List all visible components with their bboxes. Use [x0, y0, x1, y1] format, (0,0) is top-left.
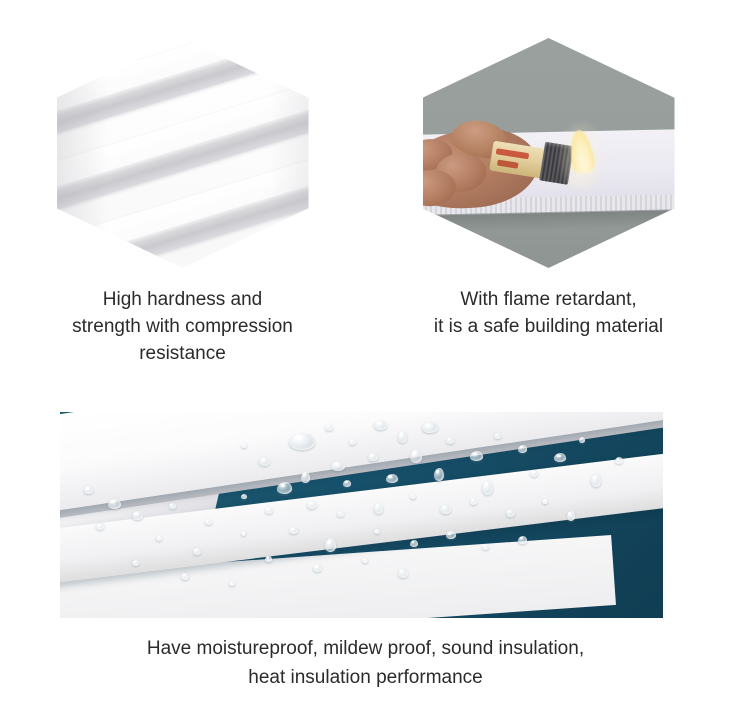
water-droplet: [368, 453, 378, 461]
water-droplet: [343, 480, 351, 487]
water-droplet: [482, 480, 493, 495]
water-droplet: [567, 511, 575, 521]
water-droplet: [337, 511, 344, 517]
water-droplet: [169, 503, 176, 509]
water-droplet: [615, 457, 623, 464]
product-feature-page: High hardness and strength with compress…: [0, 0, 731, 710]
feature-card-flame-retardant: With flame retardant, it is a safe build…: [366, 0, 731, 390]
water-droplet: [386, 474, 398, 483]
feature-caption-hardness: High hardness and strength with compress…: [0, 286, 365, 367]
caption-line: heat insulation performance: [0, 663, 731, 692]
water-droplet: [307, 501, 317, 509]
water-droplet: [470, 499, 477, 505]
water-droplet: [277, 482, 292, 494]
water-droplet: [181, 573, 189, 580]
water-droplet: [398, 569, 408, 578]
water-droplet: [84, 486, 93, 494]
water-droplet: [518, 445, 527, 453]
hexagon-image-flame-retardant: [423, 38, 675, 268]
water-droplet: [374, 503, 383, 514]
water-droplet: [265, 507, 273, 514]
water-droplet: [241, 494, 247, 499]
right-edge-shading: [270, 38, 309, 268]
water-droplet: [410, 540, 418, 547]
feature-card-hardness: High hardness and strength with compress…: [0, 0, 365, 390]
caption-line: With flame retardant,: [380, 286, 717, 313]
flame-test-illustration: [423, 38, 675, 268]
feature-caption-flame-retardant: With flame retardant, it is a safe build…: [366, 286, 731, 340]
water-droplet: [440, 505, 451, 514]
hexagon-image-hardness: [57, 38, 309, 268]
water-droplet: [554, 453, 566, 462]
stacked-boards-illustration: [57, 38, 309, 268]
water-droplet: [410, 449, 422, 463]
water-droplet: [422, 422, 438, 433]
feature-card-moistureproof: Have moistureproof, mildew proof, sound …: [0, 390, 731, 710]
water-droplet: [398, 431, 407, 443]
caption-line: resistance: [14, 340, 351, 367]
water-droplet: [362, 558, 368, 563]
water-droplet: [494, 433, 501, 439]
water-droplet: [301, 472, 310, 483]
water-droplet: [530, 470, 538, 477]
water-droplet: [482, 544, 489, 550]
water-droplet: [325, 538, 336, 552]
water-droplet: [156, 536, 162, 541]
water-droplet: [205, 519, 212, 525]
feature-caption-moistureproof: Have moistureproof, mildew proof, sound …: [0, 634, 731, 692]
moistureproof-image: [60, 412, 663, 618]
water-droplet: [591, 474, 601, 487]
caption-line: it is a safe building material: [380, 313, 717, 340]
water-droplet: [229, 581, 235, 586]
water-droplet: [579, 437, 585, 443]
water-droplet: [434, 468, 444, 481]
water-droplet-illustration: [60, 412, 663, 618]
water-droplet: [374, 529, 380, 534]
caption-line: Have moistureproof, mildew proof, sound …: [0, 634, 731, 663]
water-droplet: [518, 536, 527, 544]
water-droplet: [446, 531, 456, 539]
water-droplet: [132, 511, 143, 520]
water-droplet: [193, 548, 201, 555]
water-droplet: [349, 439, 356, 445]
water-droplet: [374, 420, 387, 430]
water-droplet: [542, 499, 548, 504]
water-droplet: [289, 433, 315, 450]
caption-line: strength with compression: [14, 313, 351, 340]
water-droplet: [241, 443, 247, 448]
water-droplet: [506, 509, 515, 517]
water-droplet: [108, 499, 121, 509]
caption-line: High hardness and: [14, 286, 351, 313]
water-droplet: [446, 437, 454, 444]
water-droplet: [470, 451, 483, 461]
feature-row: High hardness and strength with compress…: [0, 0, 731, 390]
